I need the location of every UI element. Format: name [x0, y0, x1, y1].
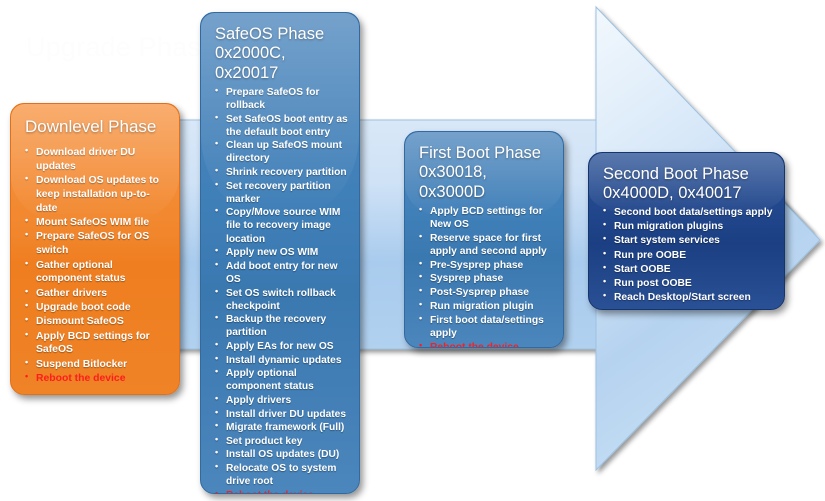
phase-step: Run migration plugin: [417, 300, 553, 313]
phase-step-list-firstboot: Apply BCD settings for New OSReserve spa…: [417, 205, 553, 348]
phase-step: Pre-Sysprep phase: [417, 259, 553, 272]
phase-codes-safeos: 0x2000C, 0x20017: [215, 44, 349, 84]
phase-card-firstboot[interactable]: First Boot Phase 0x30018, 0x3000D Apply …: [404, 131, 564, 348]
phase-step: Shrink recovery partition: [213, 166, 349, 179]
phase-step: Reach Desktop/Start screen: [601, 291, 774, 305]
phase-step: Dismount SafeOS: [23, 315, 169, 329]
phase-step: Clean up SafeOS mount directory: [213, 139, 349, 165]
phase-card-safeos[interactable]: SafeOS Phase 0x2000C, 0x20017 Prepare Sa…: [200, 12, 360, 494]
phase-step: Sysprep phase: [417, 272, 553, 285]
phase-step: Apply drivers: [213, 394, 349, 407]
phase-step: Download driver DU updates: [23, 146, 169, 174]
phase-step: Backup the recovery partition: [213, 313, 349, 339]
phase-step: Set SafeOS boot entry as the default boo…: [213, 113, 349, 139]
phase-step: Migrate framework (Full): [213, 421, 349, 434]
phase-step-list-safeos: Prepare SafeOS for rollbackSet SafeOS bo…: [213, 86, 349, 494]
phase-step: Gather optional component status: [23, 259, 169, 287]
phase-card-downlevel[interactable]: Downlevel Phase Download driver DU updat…: [10, 103, 180, 395]
phase-step: Prepare SafeOS for rollback: [213, 86, 349, 112]
phase-step: Mount SafeOS WIM file: [23, 216, 169, 230]
phase-step: Suspend Bitlocker: [23, 358, 169, 372]
phase-card-secondboot[interactable]: Second Boot Phase 0x4000D, 0x40017 Secon…: [588, 152, 785, 310]
phase-step: Set OS switch rollback checkpoint: [213, 287, 349, 313]
phase-step: Apply BCD settings for SafeOS: [23, 330, 169, 358]
phase-step: Run migration plugins: [601, 220, 774, 234]
phase-step: Gather drivers: [23, 287, 169, 301]
phase-step: Install driver DU updates: [213, 408, 349, 421]
phase-step: Relocate OS to system drive root: [213, 462, 349, 488]
phase-step: Start system services: [601, 234, 774, 248]
diagram-canvas: Upgrade Phases Downlevel Phase Download …: [0, 0, 825, 501]
phase-step: Set product key: [213, 435, 349, 448]
phase-step: Download OS updates to keep installation…: [23, 174, 169, 215]
phase-step: Install OS updates (DU): [213, 448, 349, 461]
phase-step: Apply EAs for new OS: [213, 340, 349, 353]
phase-step: Install dynamic updates: [213, 354, 349, 367]
phase-title-downlevel: Downlevel Phase: [25, 117, 169, 137]
phase-step-list-secondboot: Second boot data/settings applyRun migra…: [601, 206, 774, 305]
phase-step: Second boot data/settings apply: [601, 206, 774, 220]
phase-step: Reboot the device: [417, 341, 553, 348]
phase-step: Apply BCD settings for New OS: [417, 205, 553, 231]
phase-title-firstboot: First Boot Phase: [419, 144, 553, 163]
phase-codes-firstboot: 0x30018, 0x3000D: [419, 163, 553, 203]
phase-step: Reserve space for first apply and second…: [417, 232, 553, 258]
phase-step: Prepare SafeOS for OS switch: [23, 230, 169, 258]
phase-step: Set recovery partition marker: [213, 180, 349, 206]
phase-step: Run pre OOBE: [601, 249, 774, 263]
phase-title-safeos: SafeOS Phase: [215, 25, 349, 44]
phase-title-secondboot: Second Boot Phase: [603, 165, 774, 184]
phase-step: Upgrade boot code: [23, 301, 169, 315]
phase-step: Reboot the device: [23, 372, 169, 386]
phase-step: Apply optional component status: [213, 367, 349, 393]
phase-step: Run post OOBE: [601, 277, 774, 291]
phase-step: Copy/Move source WIM file to recovery im…: [213, 206, 349, 245]
phase-step: Reboot the device: [213, 489, 349, 494]
phase-step: Start OOBE: [601, 263, 774, 277]
phase-step: First boot data/settings apply: [417, 314, 553, 340]
phase-step: Add boot entry for new OS: [213, 260, 349, 286]
phase-step: Post-Sysprep phase: [417, 286, 553, 299]
phase-codes-secondboot: 0x4000D, 0x40017: [603, 184, 774, 204]
phase-step: Apply new OS WIM: [213, 246, 349, 259]
phase-step-list-downlevel: Download driver DU updatesDownload OS up…: [23, 146, 169, 386]
